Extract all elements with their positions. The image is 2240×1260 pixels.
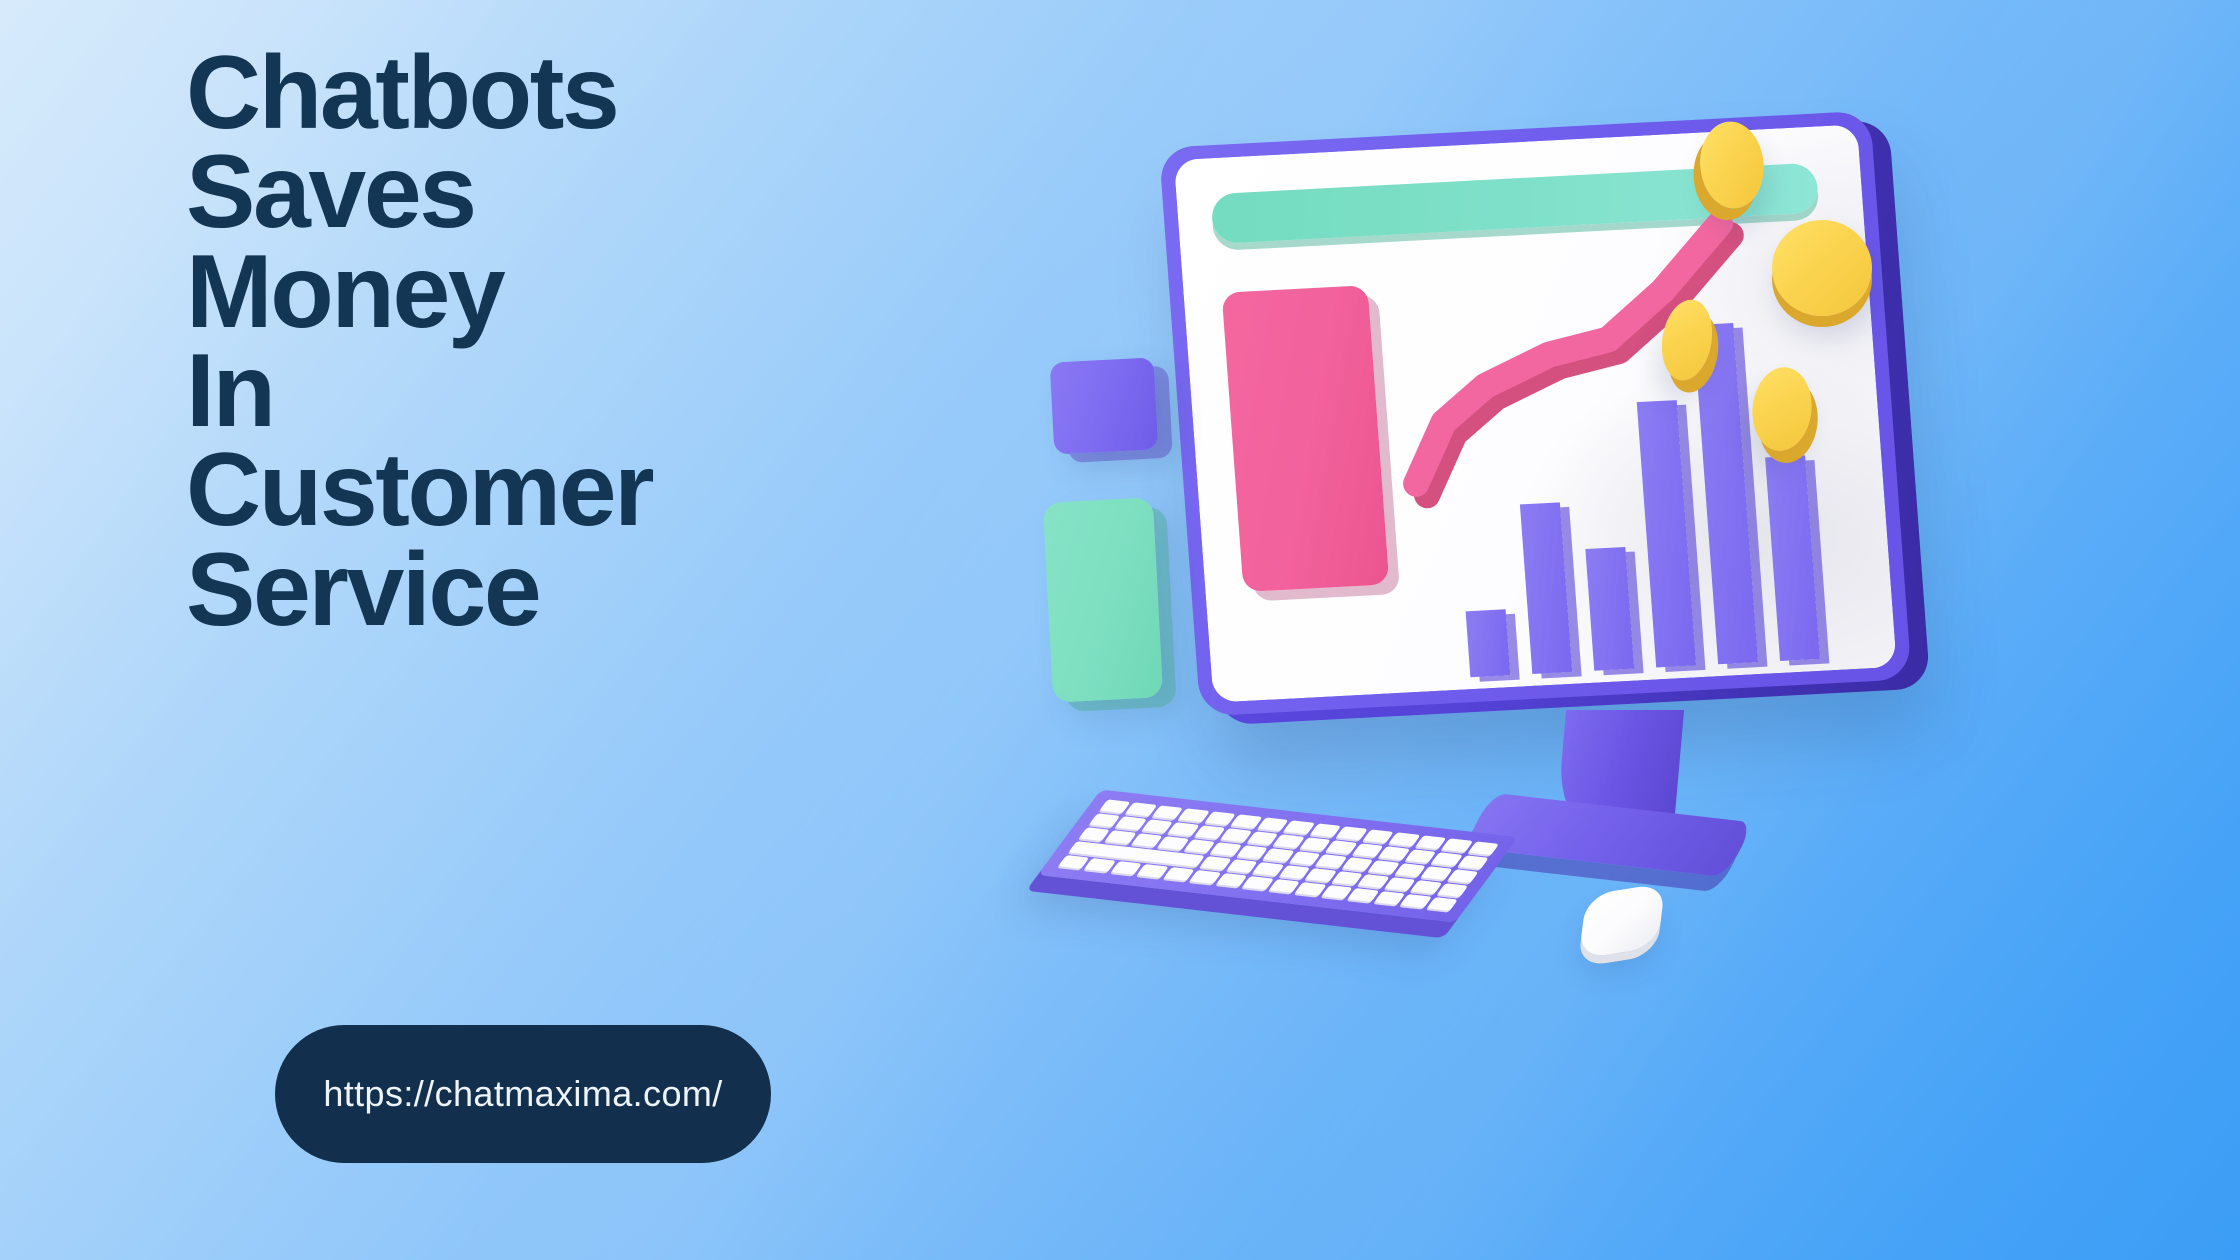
chart-bar: [1585, 547, 1634, 671]
keyboard-key: [1421, 866, 1453, 880]
headline-line-6: Service: [186, 541, 946, 640]
chart-bar: [1466, 609, 1511, 677]
headline-line-4: In: [186, 342, 946, 441]
website-url-pill[interactable]: https://chatmaxima.com/: [275, 1025, 771, 1163]
headline-line-1: Chatbots: [186, 44, 946, 143]
keyboard-key: [1400, 894, 1432, 908]
chart-bar: [1520, 502, 1572, 674]
keyboard-key: [1441, 838, 1473, 852]
headline-line-2: Saves: [186, 143, 946, 242]
pink-panel-card: [1222, 285, 1390, 592]
keyboard-key: [1410, 880, 1442, 894]
trend-line-chart: [1388, 190, 1849, 502]
keyboard-key: [1431, 852, 1463, 866]
headline-line-3: Money: [186, 243, 946, 342]
monitor: [1159, 110, 1931, 737]
headline-line-5: Customer: [186, 441, 946, 540]
promo-banner: Chatbots Saves Money In Customer Service…: [0, 0, 2240, 1260]
website-url-text: https://chatmaxima.com/: [323, 1073, 722, 1115]
page-title: Chatbots Saves Money In Customer Service: [186, 44, 946, 640]
computer-illustration: [1060, 100, 2070, 1110]
mint-rounded-card: [1043, 497, 1163, 702]
chart-bar: [1765, 455, 1820, 661]
purple-square-card: [1050, 357, 1159, 454]
coin-icon: [1772, 220, 1872, 316]
keyboard: [1038, 790, 1518, 923]
computer-mouse: [1579, 883, 1666, 960]
